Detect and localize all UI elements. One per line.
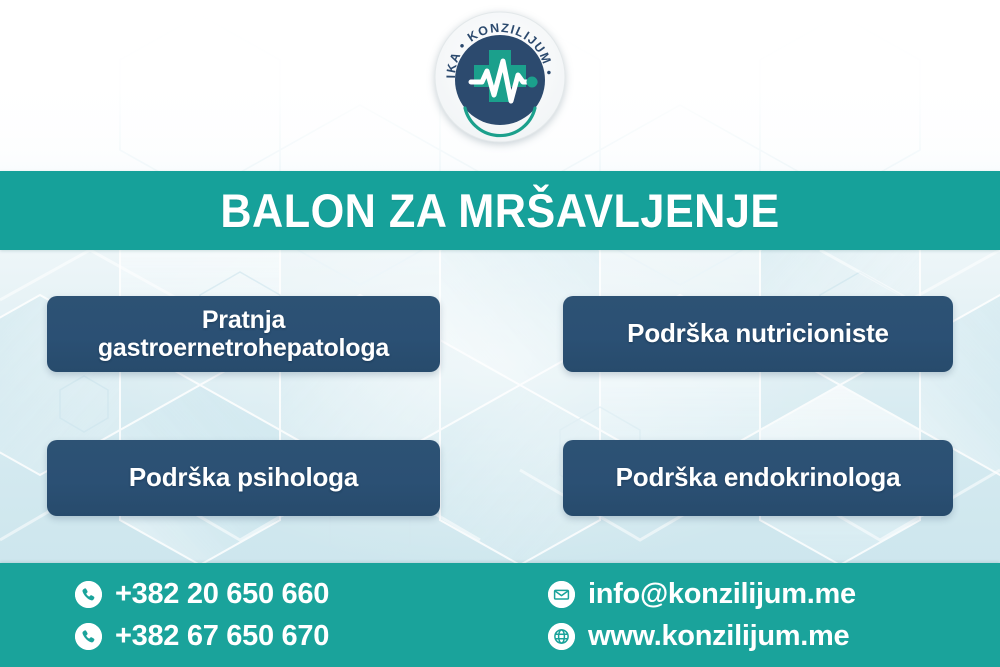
footer-web-column: info@konzilijum.me www.konzilijum.me bbox=[548, 575, 856, 655]
contact-value: +382 20 650 660 bbox=[115, 580, 329, 609]
contact-website[interactable]: www.konzilijum.me bbox=[548, 617, 856, 655]
service-cards-grid: Pratnja gastroernetrohepatologa Podrška … bbox=[0, 250, 1000, 563]
poster-root: POLIKLINIKA • KONZILIJUM • BOLNICA BALON… bbox=[0, 0, 1000, 667]
card-psiholog[interactable]: Podrška psihologa bbox=[47, 440, 440, 516]
contact-value: info@konzilijum.me bbox=[588, 580, 856, 609]
contact-value: +382 67 650 670 bbox=[115, 622, 329, 651]
contact-phone-secondary[interactable]: +382 67 650 670 bbox=[75, 617, 329, 655]
footer-phone-column: +382 20 650 660 +382 67 650 670 bbox=[75, 575, 329, 655]
page-title: BALON ZA MRŠAVLJENJE bbox=[220, 187, 779, 234]
contact-email[interactable]: info@konzilijum.me bbox=[548, 575, 856, 613]
phone-icon bbox=[75, 623, 102, 650]
footer-contact-bar: +382 20 650 660 +382 67 650 670 bbox=[0, 563, 1000, 667]
card-label: Podrška nutricioniste bbox=[627, 319, 889, 349]
contact-value: www.konzilijum.me bbox=[588, 622, 849, 651]
card-endokrinolog[interactable]: Podrška endokrinologa bbox=[563, 440, 953, 516]
card-gastroenterohepatolog[interactable]: Pratnja gastroernetrohepatologa bbox=[47, 296, 440, 372]
globe-icon bbox=[548, 623, 575, 650]
card-label: Podrška psihologa bbox=[129, 463, 358, 493]
card-nutricionista[interactable]: Podrška nutricioniste bbox=[563, 296, 953, 372]
card-label: Podrška endokrinologa bbox=[616, 463, 901, 493]
envelope-icon bbox=[548, 581, 575, 608]
phone-icon bbox=[75, 581, 102, 608]
konzilijum-logo: POLIKLINIKA • KONZILIJUM • BOLNICA bbox=[433, 10, 567, 144]
title-banner: BALON ZA MRŠAVLJENJE bbox=[0, 171, 1000, 250]
card-label: Pratnja gastroernetrohepatologa bbox=[98, 306, 389, 363]
contact-phone-primary[interactable]: +382 20 650 660 bbox=[75, 575, 329, 613]
